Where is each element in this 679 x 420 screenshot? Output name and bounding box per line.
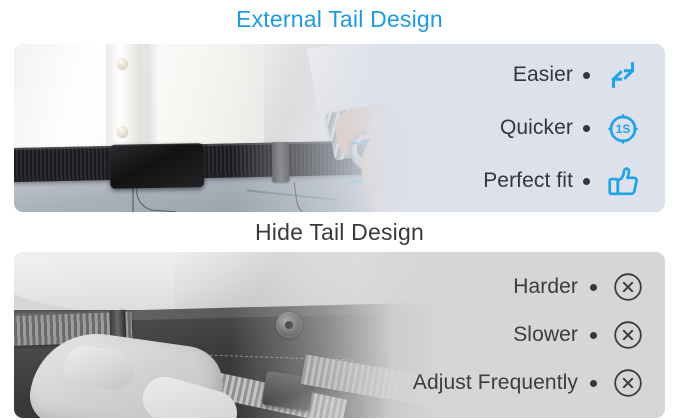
feature-list-hide-tail: Harder Slower — [413, 252, 645, 418]
photo-artwork — [14, 44, 434, 212]
photo-hide-tail-belt — [14, 252, 444, 418]
feature-label: Easier — [513, 63, 573, 87]
circle-x-icon — [611, 366, 645, 400]
compress-arrows-icon — [603, 55, 643, 95]
product-comparison-graphic: External Tail Design — [0, 0, 679, 420]
belt-keeper-loop — [272, 142, 290, 182]
circle-x-icon — [611, 318, 645, 352]
pants-rivet-core — [285, 321, 293, 329]
page-title-external-tail: External Tail Design — [0, 6, 679, 33]
feature-label: Slower — [513, 323, 578, 347]
bullet-dot — [583, 178, 590, 185]
bullet-dot — [583, 72, 590, 79]
stopwatch-1s-icon: 1S — [603, 108, 643, 148]
stopwatch-label: 1S — [616, 122, 631, 136]
belt-tail-cord — [293, 175, 345, 212]
page-title-hide-tail: Hide Tail Design — [0, 219, 679, 246]
feature-row-perfect-fit: Perfect fit — [483, 161, 643, 201]
bullet-dot — [590, 380, 597, 387]
feature-row-quicker: Quicker 1S — [483, 108, 643, 148]
feature-label: Quicker — [500, 116, 573, 140]
shirt-button — [117, 126, 128, 137]
feature-row-adjust-frequently: Adjust Frequently — [413, 366, 645, 400]
panel-hide-tail: Harder Slower — [14, 252, 665, 418]
feature-label: Perfect fit — [483, 169, 573, 193]
feature-label: Adjust Frequently — [413, 371, 578, 395]
feature-list-external-tail: Easier Quicker — [483, 44, 643, 212]
bullet-dot — [590, 284, 597, 291]
feature-row-harder: Harder — [413, 270, 645, 304]
circle-x-icon — [611, 270, 645, 304]
feature-label: Harder — [513, 275, 578, 299]
photo-artwork — [14, 252, 444, 418]
feature-row-easier: Easier — [483, 55, 643, 95]
bullet-dot — [583, 125, 590, 132]
photo-external-tail-belt — [14, 44, 434, 212]
thumbs-up-icon — [603, 161, 643, 201]
panel-external-tail: Easier Quicker — [14, 44, 665, 212]
shirt-button — [117, 58, 128, 69]
feature-row-slower: Slower — [413, 318, 645, 352]
bullet-dot — [590, 332, 597, 339]
